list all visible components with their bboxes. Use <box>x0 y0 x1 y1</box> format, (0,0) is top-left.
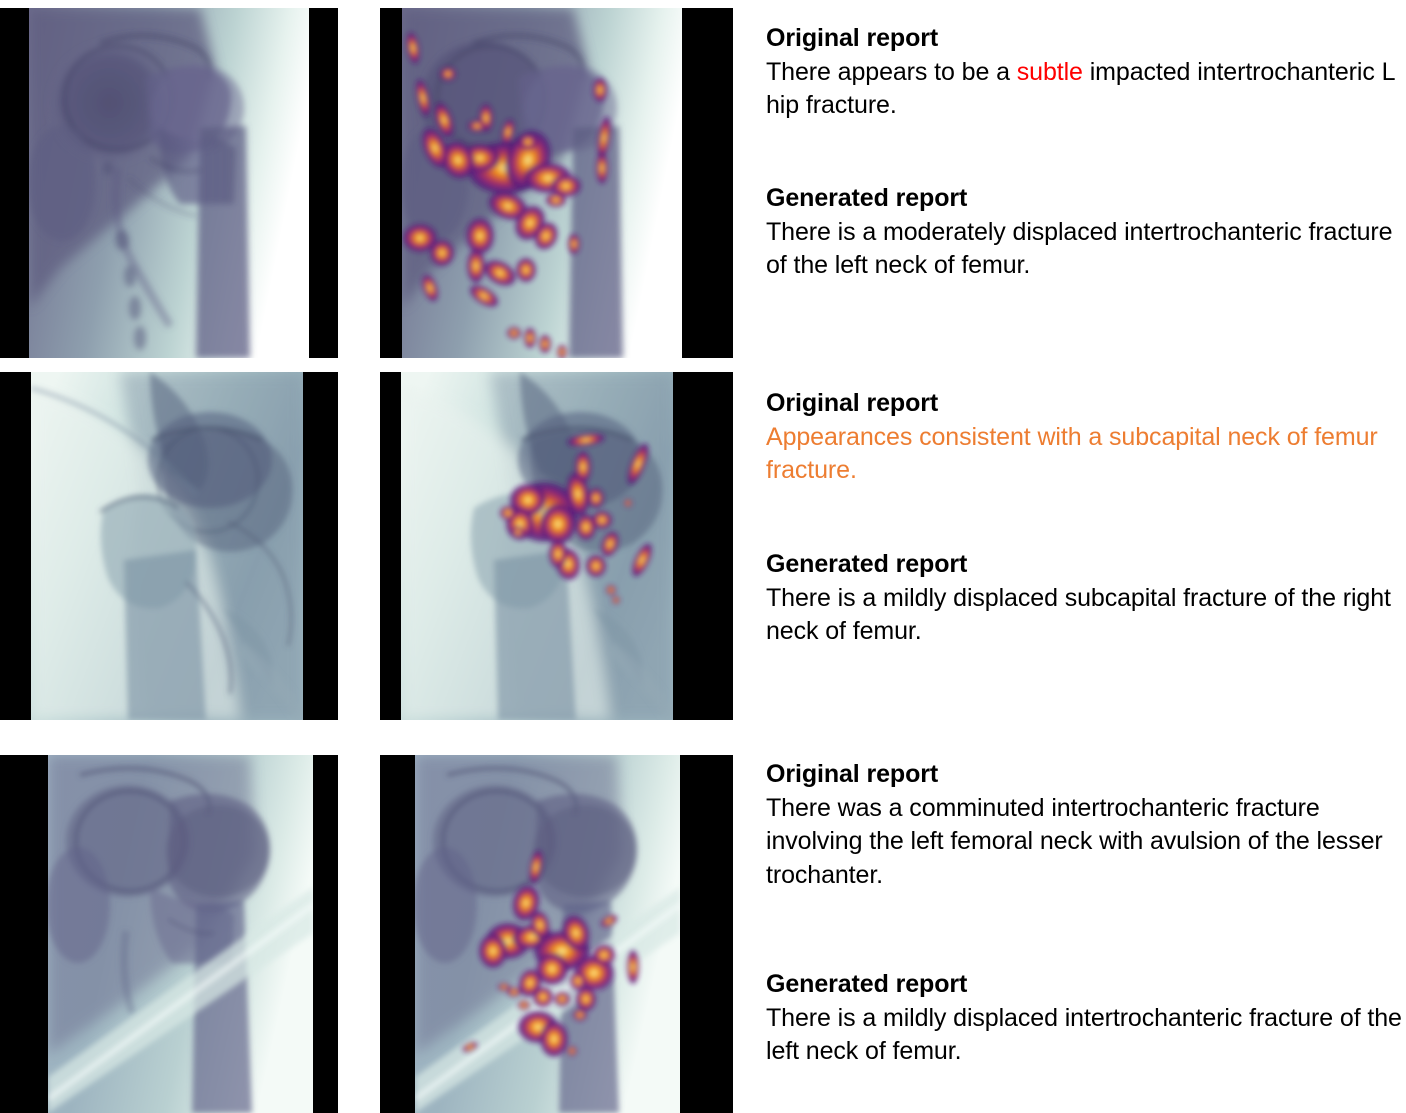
report-heading-original-1: Original report <box>766 22 1406 56</box>
reports-column: Original report There appears to be a su… <box>766 0 1406 1113</box>
report-text-original-2: Appearances consistent with a subcapital… <box>766 421 1406 488</box>
report-highlight-subtle: subtle <box>1017 58 1083 86</box>
report-text-generated-2: There is a mildly displaced subcapital f… <box>766 582 1406 649</box>
report-heading-original-2: Original report <box>766 387 1406 421</box>
report-text-segment: There appears to be a <box>766 58 1017 86</box>
report-heading-original-3: Original report <box>766 758 1406 792</box>
report-group-row1-generated: Generated report There is a moderately d… <box>766 182 1406 283</box>
report-group-row2-original: Original report Appearances consistent w… <box>766 387 1406 488</box>
hip-xray-saliency-row1 <box>380 8 733 358</box>
hip-xray-saliency-row3 <box>380 755 733 1113</box>
hip-xray-row2 <box>0 372 338 720</box>
hip-xray-row1 <box>0 8 338 358</box>
figure-root: Original report There appears to be a su… <box>0 0 1406 1113</box>
report-text-generated-3: There is a mildly displaced intertrochan… <box>766 1002 1406 1069</box>
report-group-row2-generated: Generated report There is a mildly displ… <box>766 548 1406 649</box>
report-group-row3-original: Original report There was a comminuted i… <box>766 758 1406 892</box>
report-heading-generated-2: Generated report <box>766 548 1406 582</box>
report-group-row1-original: Original report There appears to be a su… <box>766 22 1406 123</box>
report-heading-generated-1: Generated report <box>766 182 1406 216</box>
report-text-original-3: There was a comminuted intertrochanteric… <box>766 792 1406 893</box>
hip-xray-saliency-row2 <box>380 372 733 720</box>
report-text-original-1: There appears to be a subtle impacted in… <box>766 56 1406 123</box>
hip-xray-row3 <box>0 755 338 1113</box>
report-group-row3-generated: Generated report There is a mildly displ… <box>766 968 1406 1069</box>
report-heading-generated-3: Generated report <box>766 968 1406 1002</box>
report-text-generated-1: There is a moderately displaced intertro… <box>766 216 1406 283</box>
